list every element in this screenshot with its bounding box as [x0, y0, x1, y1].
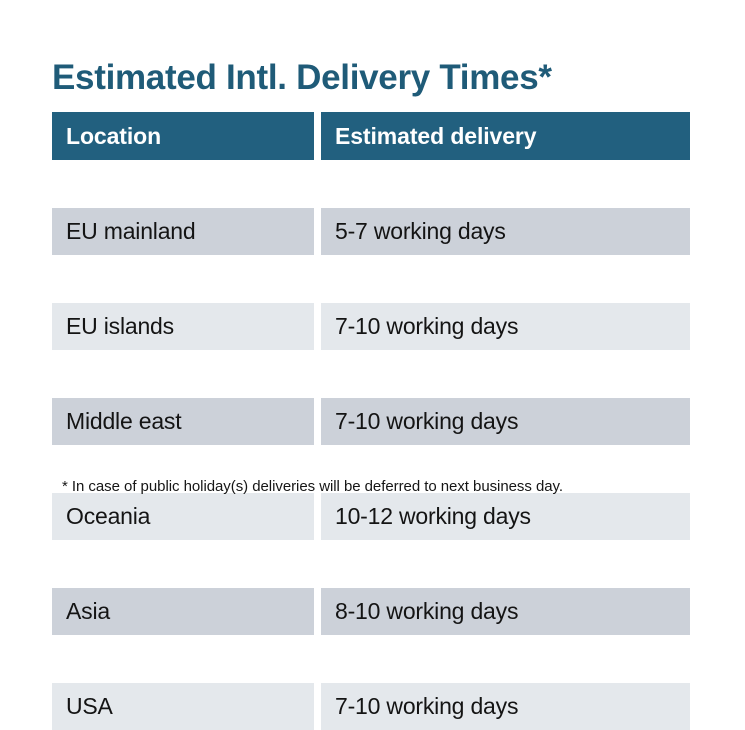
column-separator — [314, 208, 321, 255]
cell-delivery: 5-7 working days — [321, 208, 690, 255]
cell-location: EU islands — [52, 303, 314, 350]
cell-delivery: 7-10 working days — [321, 398, 690, 445]
table-row: Oceania 10-12 working days — [52, 493, 690, 540]
table-row: USA 7-10 working days — [52, 683, 690, 730]
table-row: EU islands 7-10 working days — [52, 303, 690, 350]
column-separator — [314, 303, 321, 350]
column-separator — [314, 493, 321, 540]
footnote-text: * In case of public holiday(s) deliverie… — [62, 478, 563, 495]
cell-location: EU mainland — [52, 208, 314, 255]
column-header-location: Location — [52, 112, 314, 160]
table-header: Location Estimated delivery — [52, 112, 690, 160]
page-title: Estimated Intl. Delivery Times* — [52, 59, 552, 98]
table-row: Middle east 7-10 working days — [52, 398, 690, 445]
cell-location: Oceania — [52, 493, 314, 540]
delivery-times-table: Location Estimated delivery EU mainland … — [52, 112, 690, 730]
delivery-times-page: Estimated Intl. Delivery Times* Location… — [0, 0, 745, 536]
cell-delivery: 8-10 working days — [321, 588, 690, 635]
column-header-estimated-delivery: Estimated delivery — [321, 112, 690, 160]
column-separator — [314, 588, 321, 635]
cell-location: USA — [52, 683, 314, 730]
cell-delivery: 10-12 working days — [321, 493, 690, 540]
table-header-row: Location Estimated delivery — [52, 112, 690, 160]
row-spacer — [52, 540, 690, 588]
row-spacer — [52, 635, 690, 683]
column-separator — [314, 112, 321, 160]
table-row: Asia 8-10 working days — [52, 588, 690, 635]
cell-delivery: 7-10 working days — [321, 683, 690, 730]
cell-location: Asia — [52, 588, 314, 635]
row-spacer — [52, 255, 690, 303]
table-row: EU mainland 5-7 working days — [52, 208, 690, 255]
column-separator — [314, 398, 321, 445]
row-spacer — [52, 350, 690, 398]
row-spacer — [52, 160, 690, 208]
column-separator — [314, 683, 321, 730]
table-body: EU mainland 5-7 working days EU islands … — [52, 160, 690, 730]
cell-delivery: 7-10 working days — [321, 303, 690, 350]
cell-location: Middle east — [52, 398, 314, 445]
